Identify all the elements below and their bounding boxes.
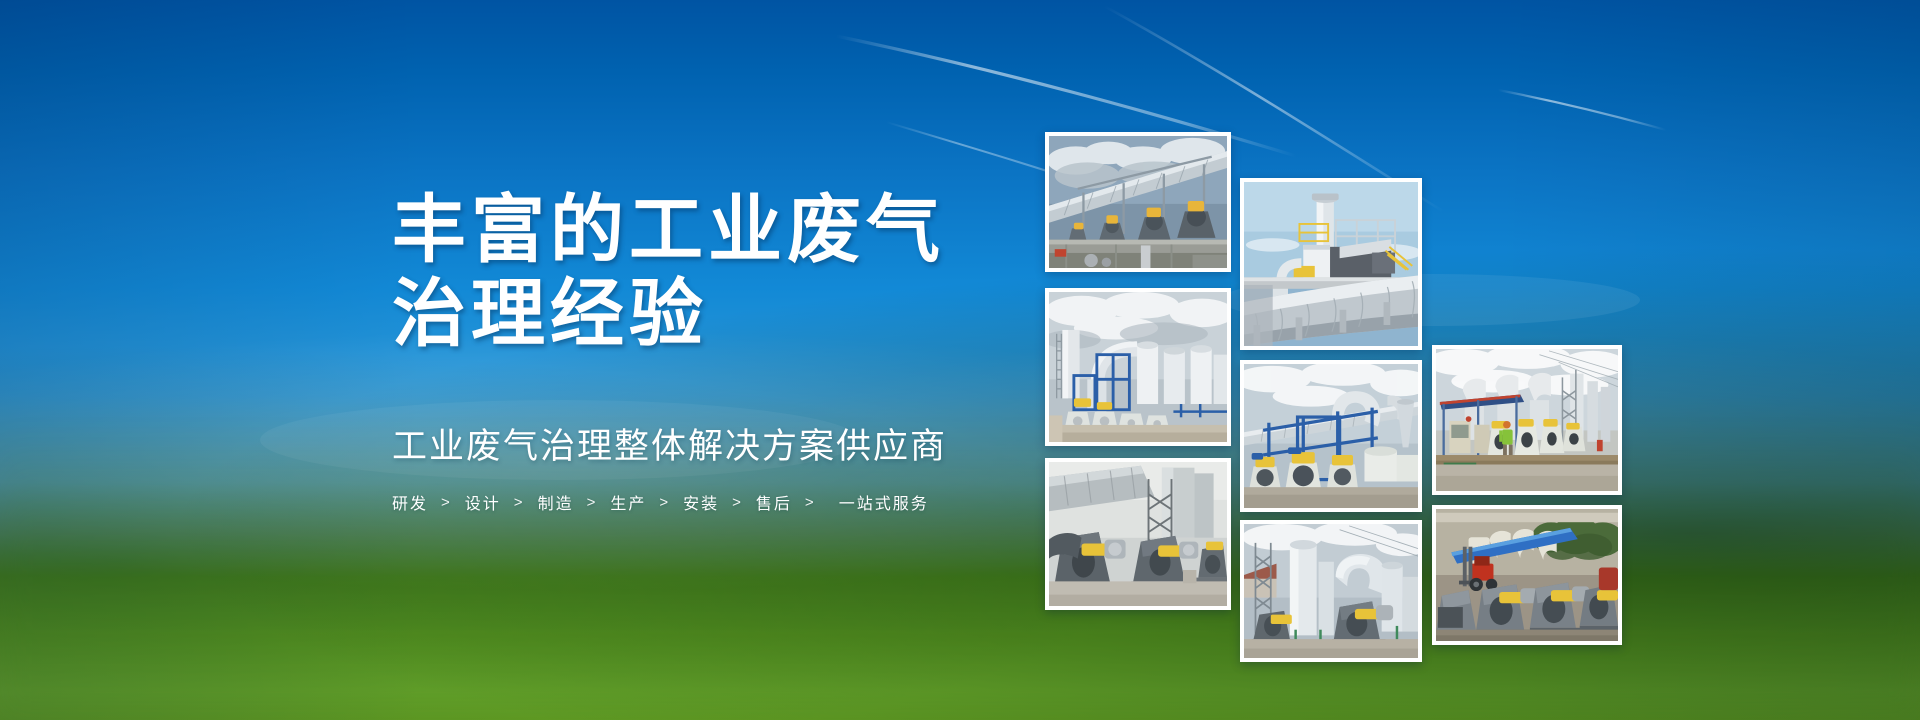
photo-collage [0, 0, 1920, 720]
photo-scrubber-towers [1045, 288, 1231, 446]
photo-rto-stack-pipeline [1240, 178, 1422, 350]
photo-ducting-rooftop [1045, 132, 1231, 272]
photo-large-fans [1045, 458, 1231, 610]
photo-tall-scrubber-plant [1240, 520, 1422, 662]
photo-site-install-worker [1432, 345, 1622, 495]
hero-banner: 丰富的工业废气 治理经验 工业废气治理整体解决方案供应商 研发 > 设计 > 制… [0, 0, 1920, 720]
photo-duct-run-blowers [1240, 360, 1422, 512]
photo-fans-yard-forklift [1432, 505, 1622, 645]
